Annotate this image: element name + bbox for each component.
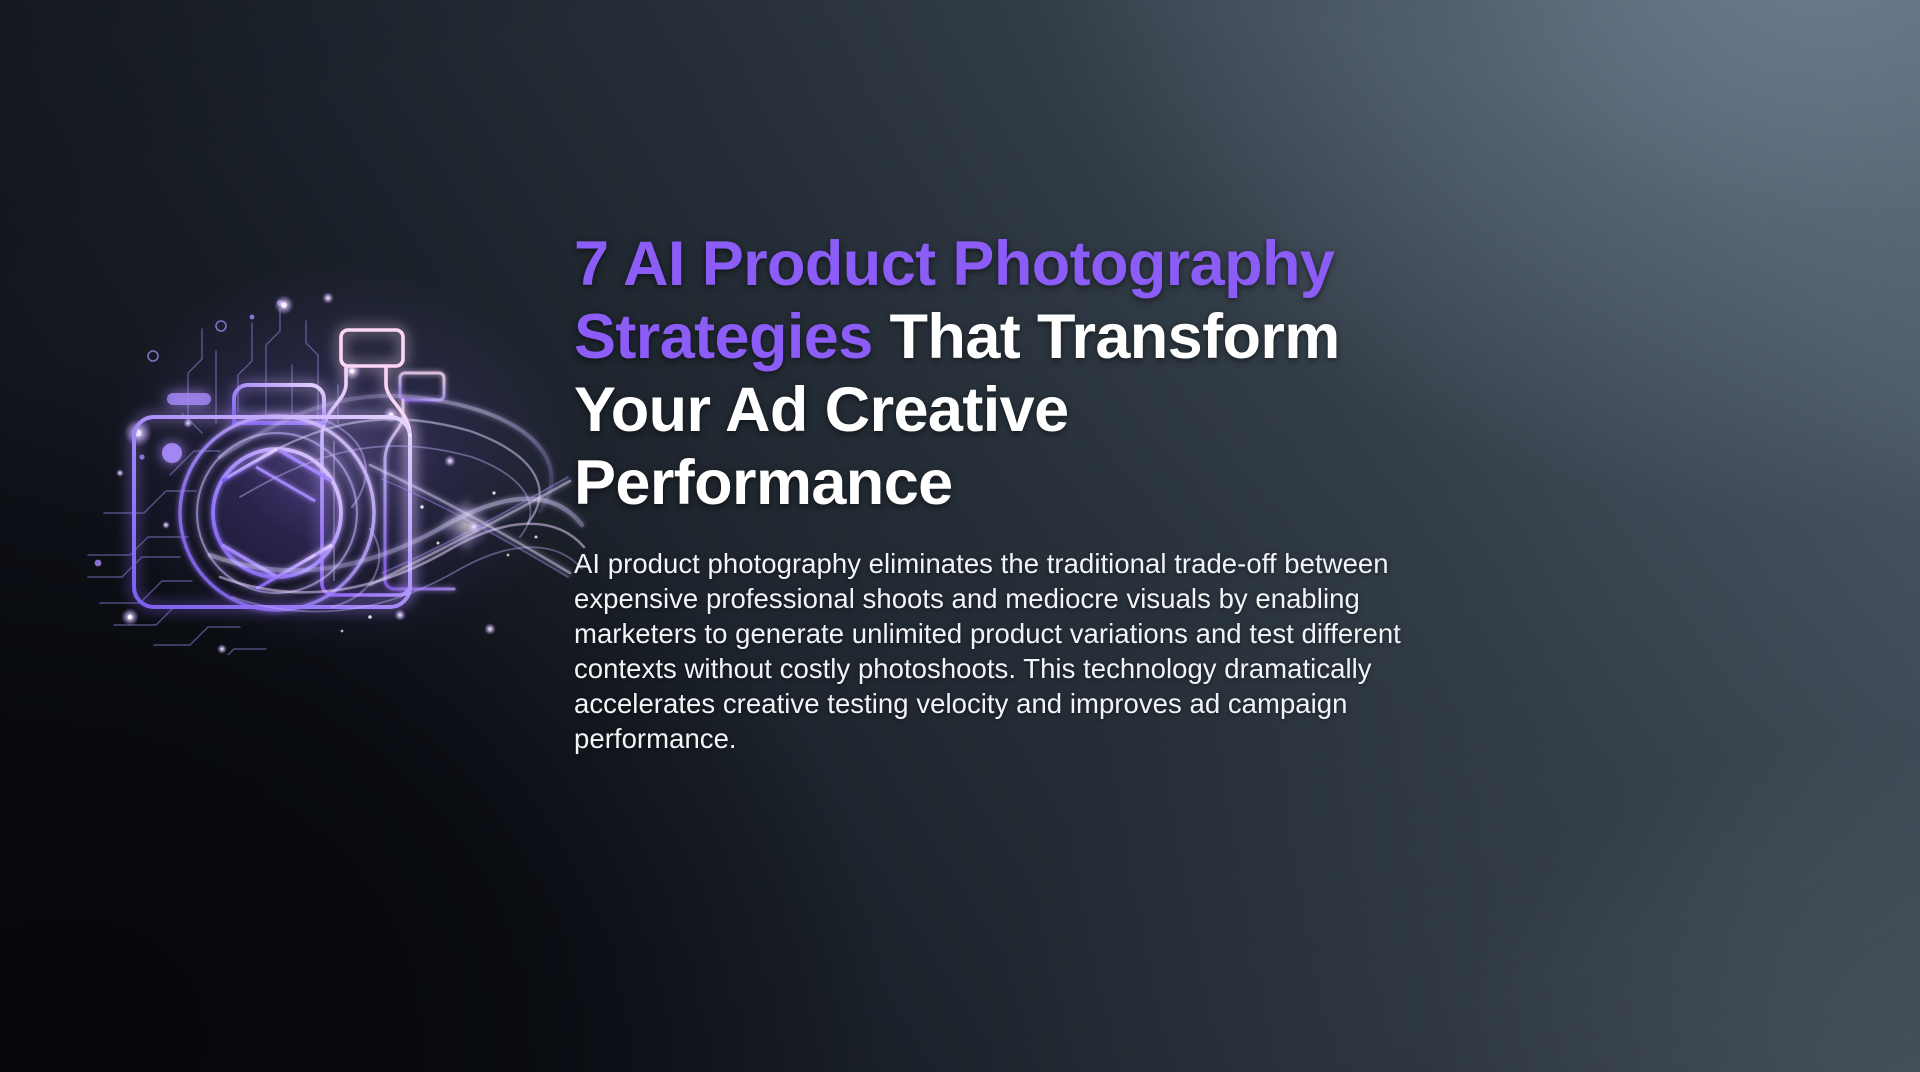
ai-camera-bottle-illustration	[70, 225, 600, 655]
hero-body-copy: AI product photography eliminates the tr…	[574, 546, 1449, 756]
page-title: 7 AI Product Photography Strategies That…	[574, 228, 1454, 520]
camera-lens-indicator-dot	[162, 443, 182, 463]
camera-flash-bar	[167, 393, 211, 405]
aperture-inner-fill	[215, 451, 339, 575]
hero-banner: 7 AI Product Photography Strategies That…	[0, 0, 1920, 1072]
hero-text-column: 7 AI Product Photography Strategies That…	[574, 228, 1464, 756]
ribbon-cross-sparkle	[440, 499, 492, 551]
